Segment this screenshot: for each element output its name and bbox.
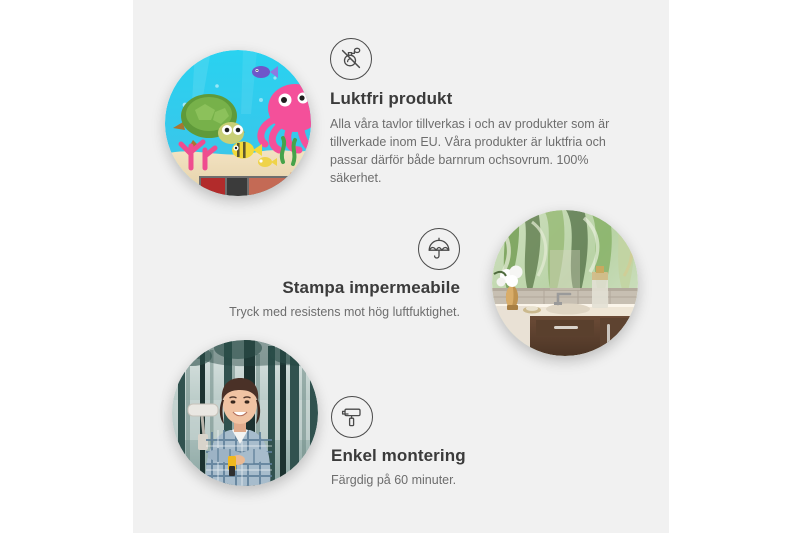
no-fragrance-glyph: [338, 46, 364, 72]
photo-ocean-mural: [165, 50, 311, 196]
feature-odourless: Luktfri produkt Alla våra tavlor tillver…: [330, 38, 630, 188]
photo-bathroom-mural: [492, 210, 638, 356]
feature-easy-mounting: Enkel montering Färgdig på 60 minuter.: [331, 396, 611, 489]
feature-body: Färgdig på 60 minuter.: [331, 471, 611, 489]
umbrella-glyph: [426, 236, 452, 262]
no-fragrance-icon: [330, 38, 372, 80]
bathroom-illustration: [492, 210, 638, 356]
photo-painter: [172, 340, 318, 486]
paint-roller-glyph: [339, 404, 365, 430]
feature-body: Alla våra tavlor tillverkas i och av pro…: [330, 115, 630, 188]
feature-body: Tryck med resistens mot hög luftfuktighe…: [198, 303, 460, 321]
umbrella-icon: [418, 228, 460, 270]
feature-title: Enkel montering: [331, 446, 611, 466]
painter-illustration: [172, 340, 318, 486]
feature-waterproof: Stampa impermeabile Tryck med resistens …: [198, 228, 460, 321]
ocean-illustration: [165, 50, 311, 196]
feature-title: Stampa impermeabile: [198, 278, 460, 298]
product-feature-banner: Luktfri produkt Alla våra tavlor tillver…: [0, 0, 800, 533]
paint-roller-icon: [331, 396, 373, 438]
feature-title: Luktfri produkt: [330, 89, 630, 109]
